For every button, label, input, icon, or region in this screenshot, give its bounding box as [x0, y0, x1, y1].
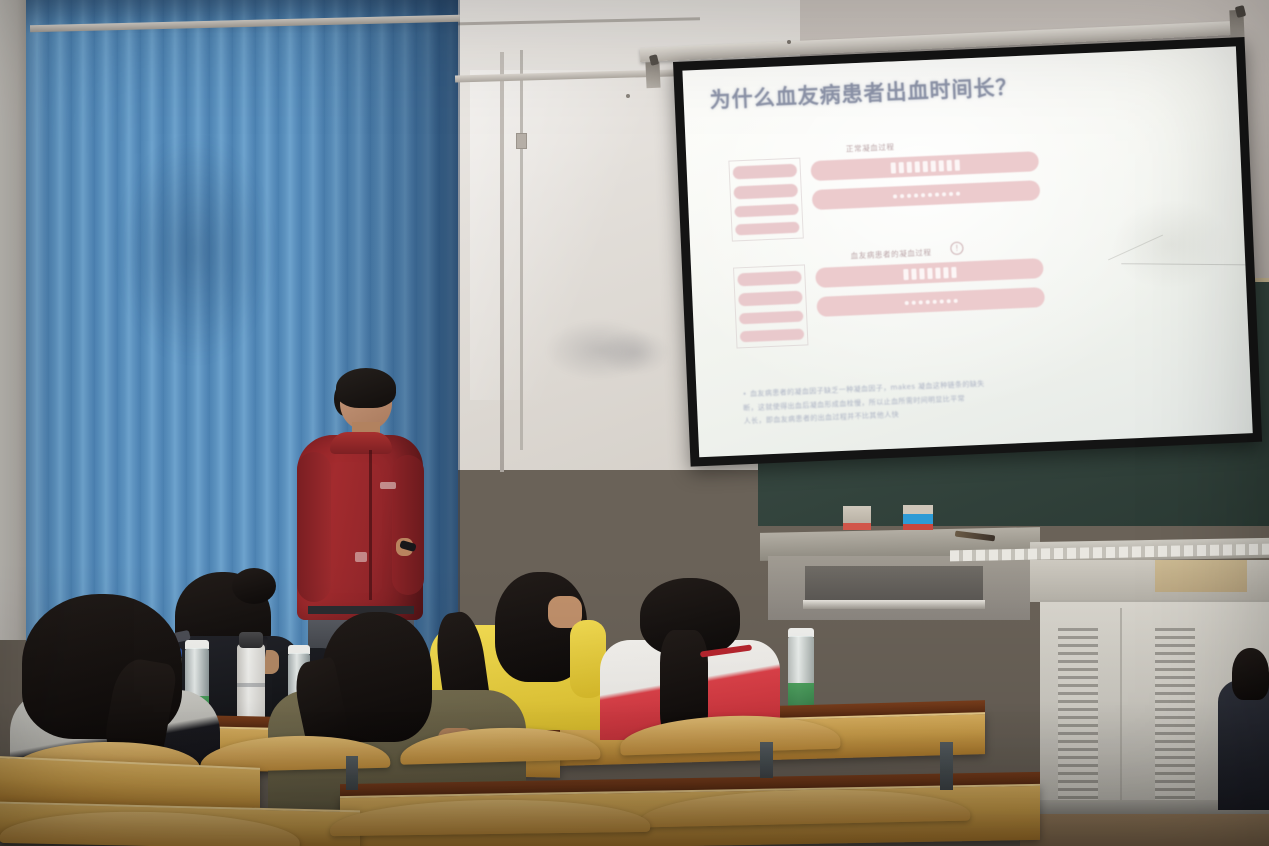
radiator-seam: [1120, 608, 1122, 808]
factor-pill: [739, 311, 803, 325]
desk-leg: [346, 756, 358, 790]
wall-screw-2: [626, 94, 630, 98]
presenter-collar: [330, 432, 392, 454]
bullet-marker: •: [742, 390, 747, 398]
factor-pill: [734, 204, 798, 218]
diagram-group-normal: 正常凝血过程: [728, 147, 1041, 241]
curtain-fold: [120, 140, 270, 360]
clot-chain-bar: [815, 258, 1044, 288]
wall-screw-1: [787, 40, 791, 44]
radiator-louver-right: [1155, 628, 1195, 800]
counter-wood-panel: [1155, 560, 1247, 592]
diagram-group-hemophilia: 血友病患者的凝血过程 !: [733, 254, 1046, 348]
bullet-line-3: 人长，即血友病患者的出血过程并不比其他人快: [744, 411, 900, 426]
wall-left-strip: [0, 0, 28, 640]
screen-surface: 为什么血友病患者出血时间长？ 正常凝血过程: [682, 46, 1252, 457]
radiator-louver-left: [1058, 628, 1098, 800]
podium-trim-strip: [803, 600, 985, 609]
presenter-jacket-logo: [380, 482, 396, 489]
lecture-hall-scene: 为什么血友病患者出血时间长？ 正常凝血过程: [0, 0, 1269, 846]
diagram-factor-list-normal: [728, 158, 803, 242]
presenter-jacket-zipper: [369, 450, 372, 600]
slide-bullet-text: •血友病患者的凝血因子缺乏一种凝血因子，makes 凝血这种链条的缺失 断，这就…: [742, 373, 1083, 429]
clot-chain-bar: [810, 151, 1039, 181]
diagram-chain-hemophilia: [815, 254, 1046, 345]
factor-pill: [737, 271, 802, 287]
diagram-factor-list-hemophilia: [733, 264, 808, 348]
factor-pill: [738, 291, 803, 307]
door-edge-secondary: [520, 50, 523, 450]
warning-icon: !: [950, 242, 964, 256]
door-latch: [516, 133, 527, 149]
bullet-line-2: 断，这就使得出血后凝血形成血栓慢，所以止血所需时间明显比平常: [743, 394, 965, 412]
diagram-label-normal: 正常凝血过程: [846, 141, 895, 154]
factor-pill: [735, 222, 799, 236]
clot-dots-bar: [812, 180, 1041, 210]
chalkboard-eraser-red[interactable]: [843, 506, 871, 530]
presenter-hair: [336, 368, 396, 408]
factor-pill: [733, 184, 798, 200]
slide-title: 为什么血友病患者出血时间长？: [709, 73, 1030, 114]
diagram-chain-normal: [810, 147, 1041, 238]
clot-dots-bar: [816, 287, 1045, 317]
presenter-arm-right: [392, 455, 424, 595]
screen-bracket-left: [645, 62, 660, 89]
wall-smudge-secondary: [600, 330, 670, 375]
presenter-sleeve-logo: [355, 552, 367, 562]
slide-content: 为什么血友病患者出血时间长？ 正常凝血过程: [682, 46, 1252, 457]
factor-pill: [740, 329, 804, 343]
desk-leg: [940, 742, 953, 790]
desk-leg: [760, 742, 773, 778]
slide-diagram: 正常凝血过程: [728, 147, 1047, 364]
floor-strip: [1020, 814, 1269, 846]
presenter-arm-left: [297, 452, 331, 602]
door-edge: [500, 52, 504, 472]
factor-pill: [733, 164, 798, 180]
projector-screen[interactable]: 为什么血友病患者出血时间长？ 正常凝血过程: [673, 37, 1262, 467]
chalkboard-eraser-blue[interactable]: [903, 505, 933, 530]
